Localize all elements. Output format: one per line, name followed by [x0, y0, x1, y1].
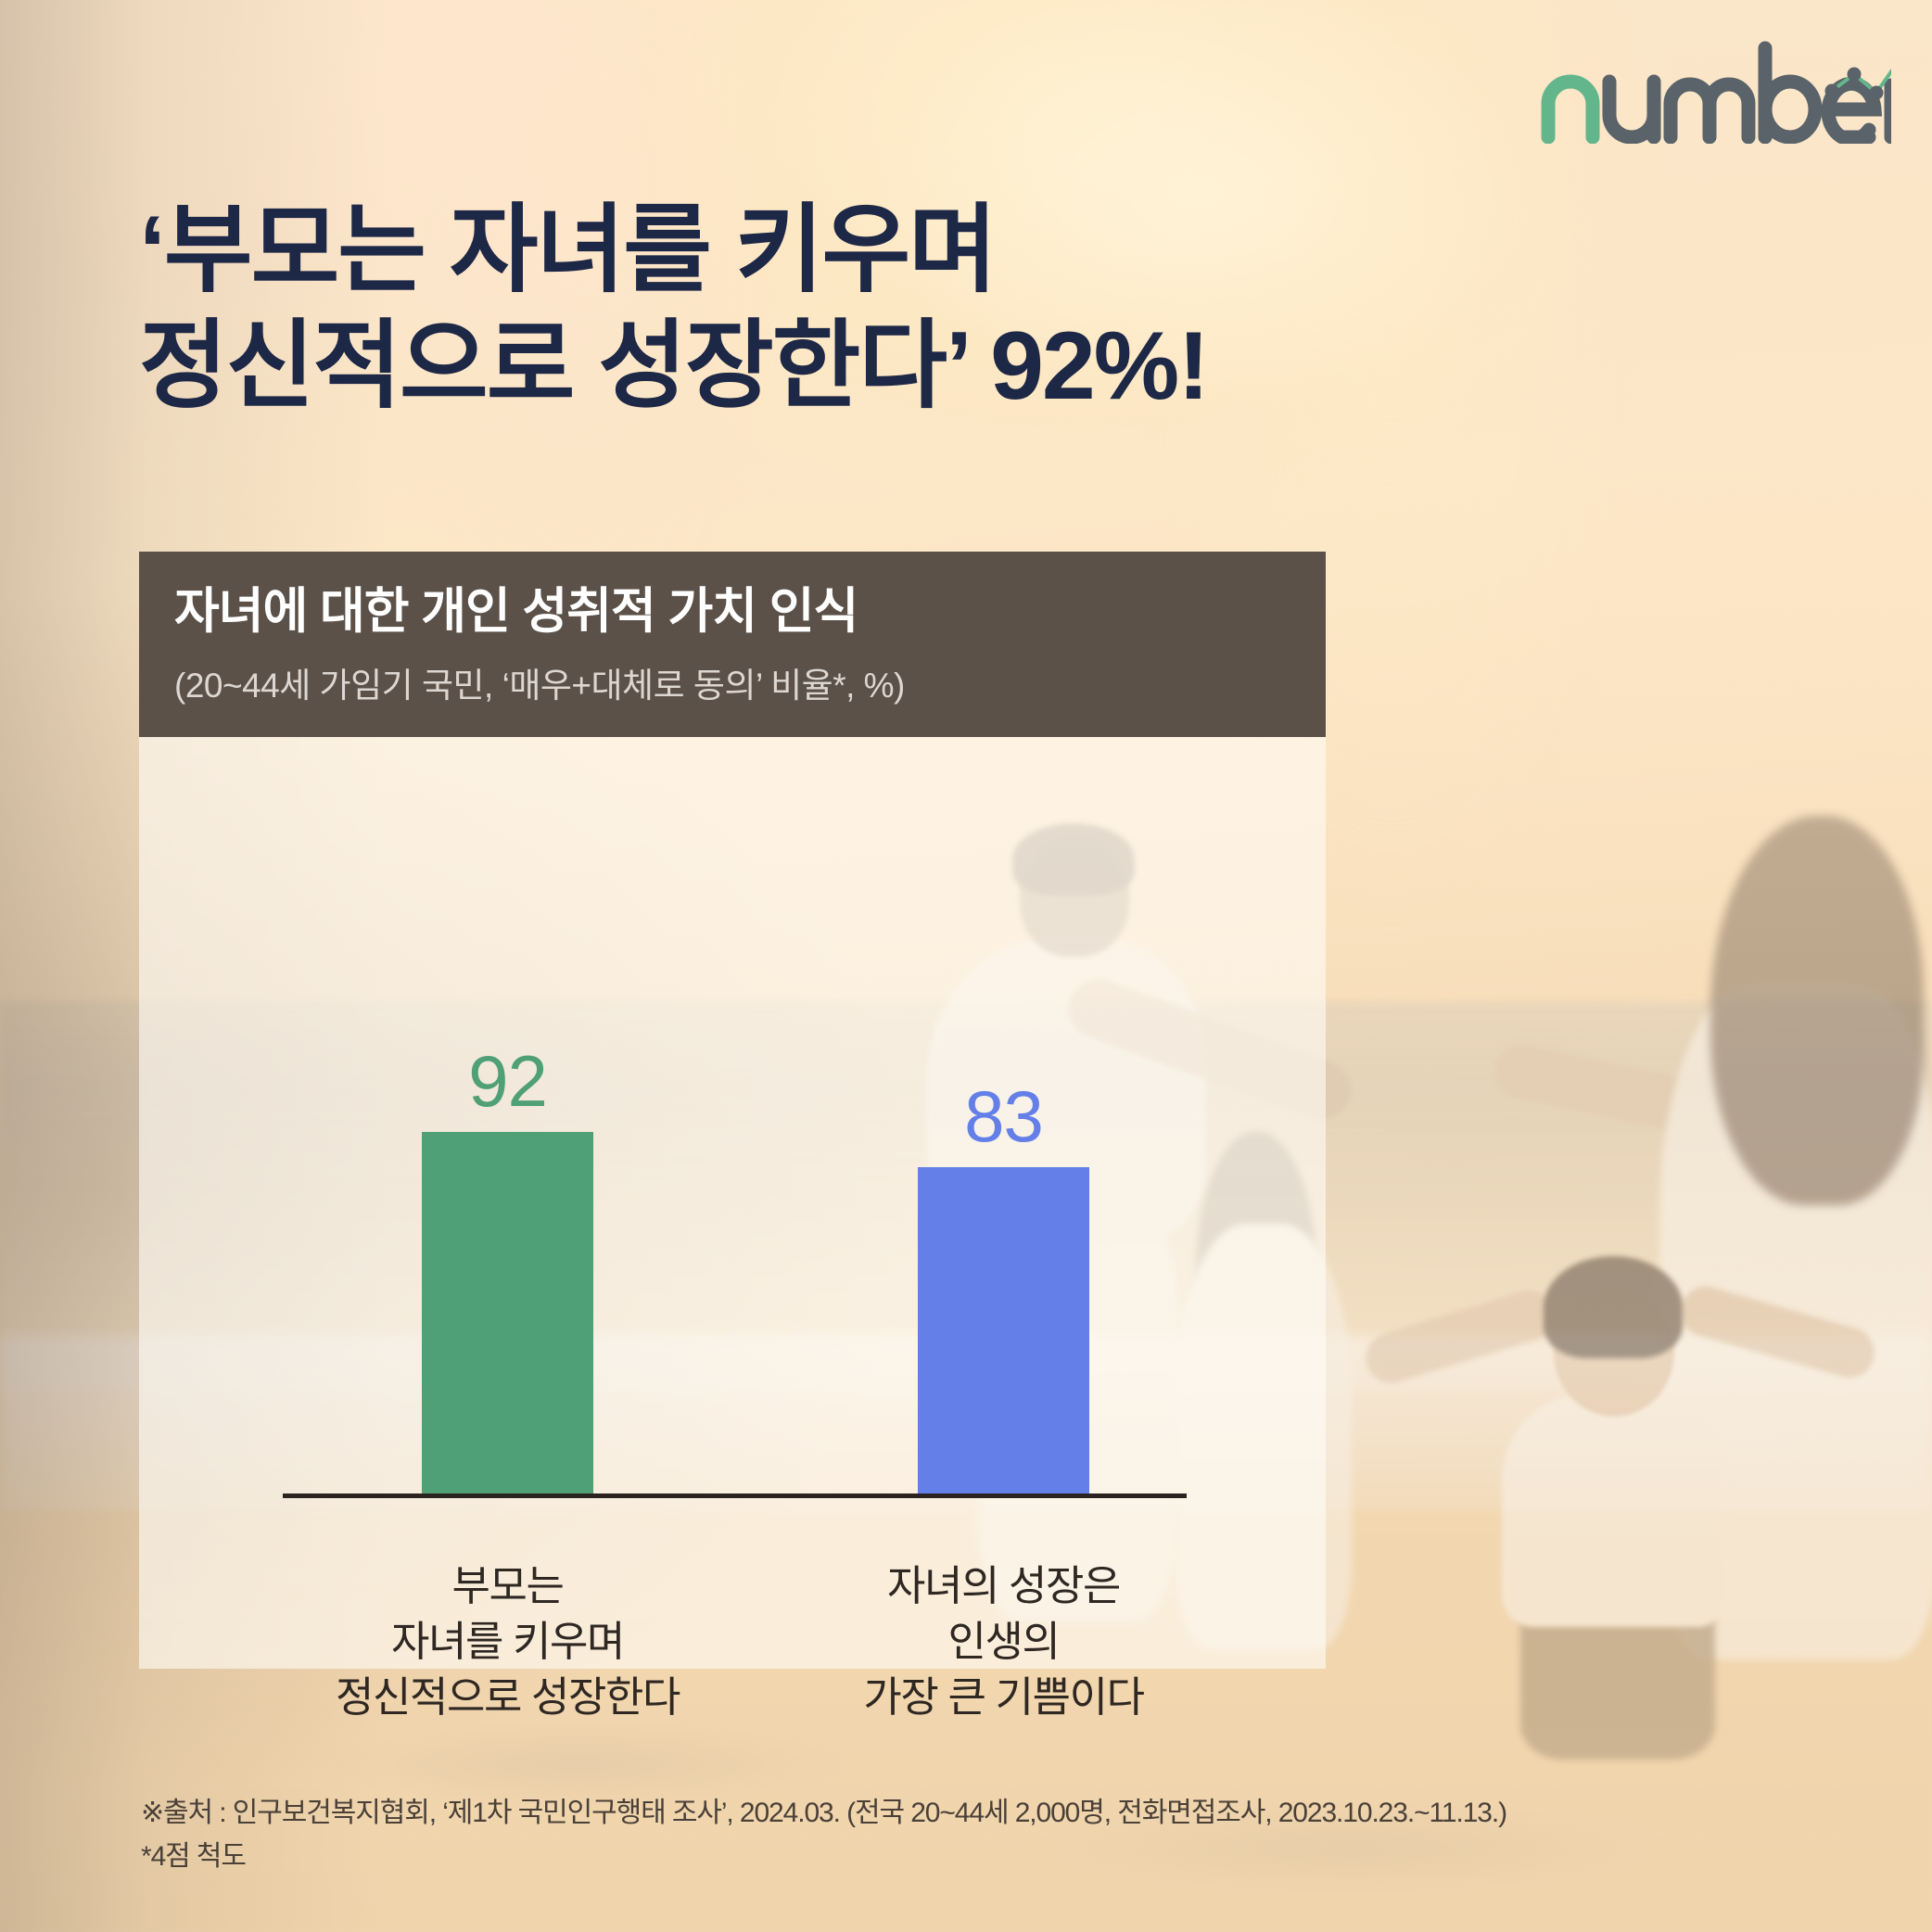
chart-panel-header: 자녀에 대한 개인 성취적 가치 인식 (20~44세 가임기 국민, ‘매우+…: [139, 552, 1326, 737]
bar-chart: 92 83 부모는 자녀를 키우며 정신적으로 성장한다 자녀의 성장은 인생의…: [139, 737, 1326, 1669]
infographic-canvas: ‘부모는 자녀를 키우며 정신적으로 성장한다’ 92%! 자녀에 대한 개인 …: [0, 0, 1932, 1932]
bar-1: [422, 1132, 593, 1493]
bar-2: [918, 1167, 1089, 1493]
chart-baseline-axis: [283, 1493, 1187, 1498]
logo-sparkline-icon: [1825, 55, 1892, 100]
bar-value-label-2: 83: [883, 1074, 1125, 1159]
scale-note-line: *4점 척도: [141, 1836, 1506, 1879]
source-line: ※출처 : 인구보건복지협회, ‘제1차 국민인구행태 조사’, 2024.03…: [141, 1792, 1506, 1836]
source-footnote: ※출처 : 인구보건복지협회, ‘제1차 국민인구행태 조사’, 2024.03…: [141, 1792, 1506, 1878]
bar-1-rect: [422, 1132, 593, 1493]
bar-category-label-1: 부모는 자녀를 키우며 정신적으로 성장한다: [313, 1558, 703, 1725]
bar-value-label-1: 92: [388, 1039, 629, 1124]
bar-category-label-2: 자녀의 성장은 인생의 가장 큰 기쁨이다: [809, 1558, 1199, 1725]
bar-2-rect: [918, 1167, 1089, 1493]
chart-panel: 자녀에 대한 개인 성취적 가치 인식 (20~44세 가임기 국민, ‘매우+…: [139, 552, 1326, 1669]
chart-plot-area: 92 83 부모는 자녀를 키우며 정신적으로 성장한다 자녀의 성장은 인생의…: [139, 737, 1326, 1669]
chart-subtitle: (20~44세 가임기 국민, ‘매우+대체로 동의’ 비율*, %): [174, 657, 1326, 707]
chart-title: 자녀에 대한 개인 성취적 가치 인식: [174, 585, 1326, 639]
numbers-logo: [1539, 37, 1891, 144]
page-title: ‘부모는 자녀를 키우며 정신적으로 성장한다’ 92%!: [139, 193, 1530, 425]
